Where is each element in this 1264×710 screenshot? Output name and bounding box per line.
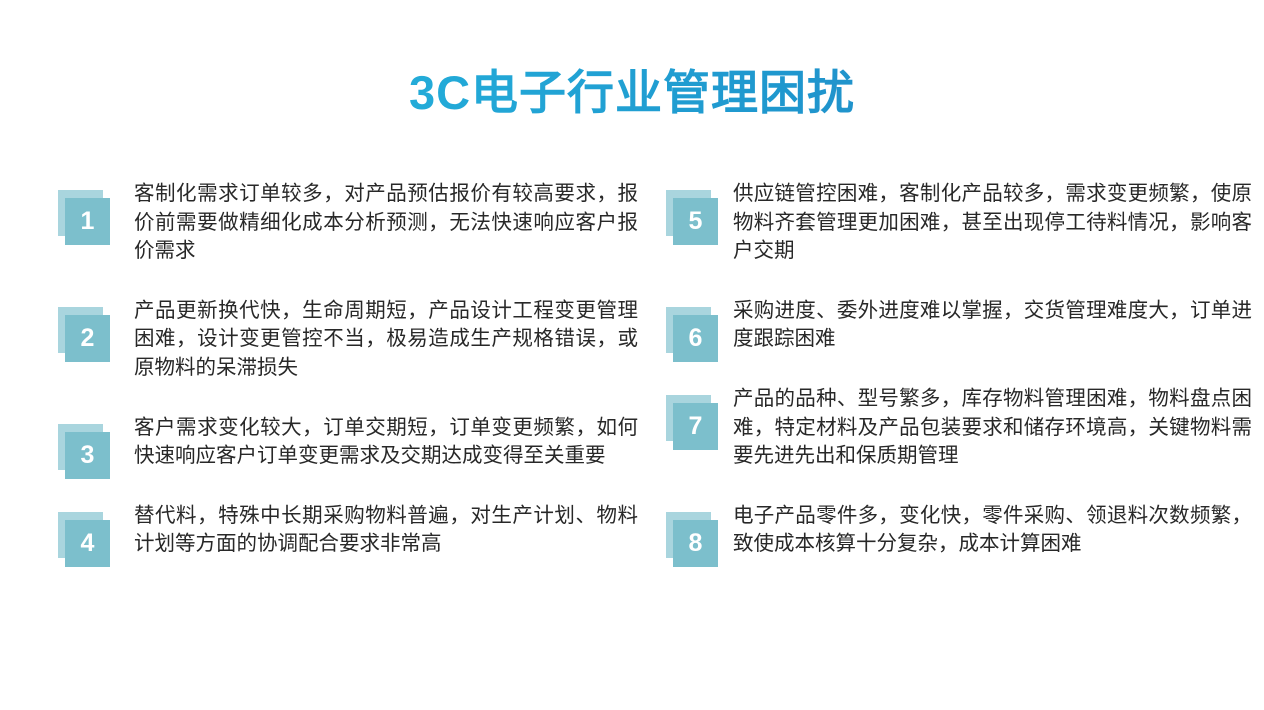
list-item: 4 替代料，特殊中长期采购物料普遍，对生产计划、物料计划等方面的协调配合要求非常… xyxy=(58,502,638,559)
right-column: 5 供应链管控困难，客制化产品较多，需求变更频繁，使原物料齐套管理更加困难，甚至… xyxy=(666,180,1252,587)
list-item-text: 产品更新换代快，生命周期短，产品设计工程变更管理困难，设计变更管控不当，极易造成… xyxy=(134,297,638,383)
number-badge: 1 xyxy=(58,190,113,247)
badge-number: 1 xyxy=(65,198,110,245)
list-item-text: 替代料，特殊中长期采购物料普遍，对生产计划、物料计划等方面的协调配合要求非常高 xyxy=(134,502,638,559)
list-item: 6 采购进度、委外进度难以掌握，交货管理难度大，订单进度跟踪困难 xyxy=(666,297,1252,354)
number-badge: 6 xyxy=(666,307,721,364)
badge-number: 4 xyxy=(65,520,110,567)
number-badge: 2 xyxy=(58,307,113,364)
list-item: 3 客户需求变化较大，订单交期短，订单变更频繁，如何快速响应客户订单变更需求及交… xyxy=(58,414,638,471)
number-badge: 8 xyxy=(666,512,721,569)
badge-number: 8 xyxy=(673,520,718,567)
list-item: 7 产品的品种、型号繁多，库存物料管理困难，物料盘点困难，特定材料及产品包装要求… xyxy=(666,385,1252,471)
list-item: 2 产品更新换代快，生命周期短，产品设计工程变更管理困难，设计变更管控不当，极易… xyxy=(58,297,638,383)
left-column: 1 客制化需求订单较多，对产品预估报价有较高要求，报价前需要做精细化成本分析预测… xyxy=(58,180,638,587)
badge-number: 5 xyxy=(673,198,718,245)
number-badge: 7 xyxy=(666,395,721,452)
badge-number: 6 xyxy=(673,315,718,362)
list-item: 8 电子产品零件多，变化快，零件采购、领退料次数频繁，致使成本核算十分复杂，成本… xyxy=(666,502,1252,559)
list-item: 1 客制化需求订单较多，对产品预估报价有较高要求，报价前需要做精细化成本分析预测… xyxy=(58,180,638,266)
list-item-text: 电子产品零件多，变化快，零件采购、领退料次数频繁，致使成本核算十分复杂，成本计算… xyxy=(733,502,1252,559)
page-title: 3C电子行业管理困扰 xyxy=(0,62,1264,124)
number-badge: 3 xyxy=(58,424,113,481)
list-item: 5 供应链管控困难，客制化产品较多，需求变更频繁，使原物料齐套管理更加困难，甚至… xyxy=(666,180,1252,266)
badge-number: 2 xyxy=(65,315,110,362)
list-item-text: 客户需求变化较大，订单交期短，订单变更频繁，如何快速响应客户订单变更需求及交期达… xyxy=(134,414,638,471)
badge-number: 3 xyxy=(65,432,110,479)
list-item-text: 采购进度、委外进度难以掌握，交货管理难度大，订单进度跟踪困难 xyxy=(733,297,1252,354)
list-item-text: 供应链管控困难，客制化产品较多，需求变更频繁，使原物料齐套管理更加困难，甚至出现… xyxy=(733,180,1252,266)
slide-canvas: 3C电子行业管理困扰 1 客制化需求订单较多，对产品预估报价有较高要求，报价前需… xyxy=(0,0,1264,710)
badge-number: 7 xyxy=(673,403,718,450)
list-item-text: 产品的品种、型号繁多，库存物料管理困难，物料盘点困难，特定材料及产品包装要求和储… xyxy=(733,385,1252,471)
list-item-text: 客制化需求订单较多，对产品预估报价有较高要求，报价前需要做精细化成本分析预测，无… xyxy=(134,180,638,266)
number-badge: 4 xyxy=(58,512,113,569)
number-badge: 5 xyxy=(666,190,721,247)
